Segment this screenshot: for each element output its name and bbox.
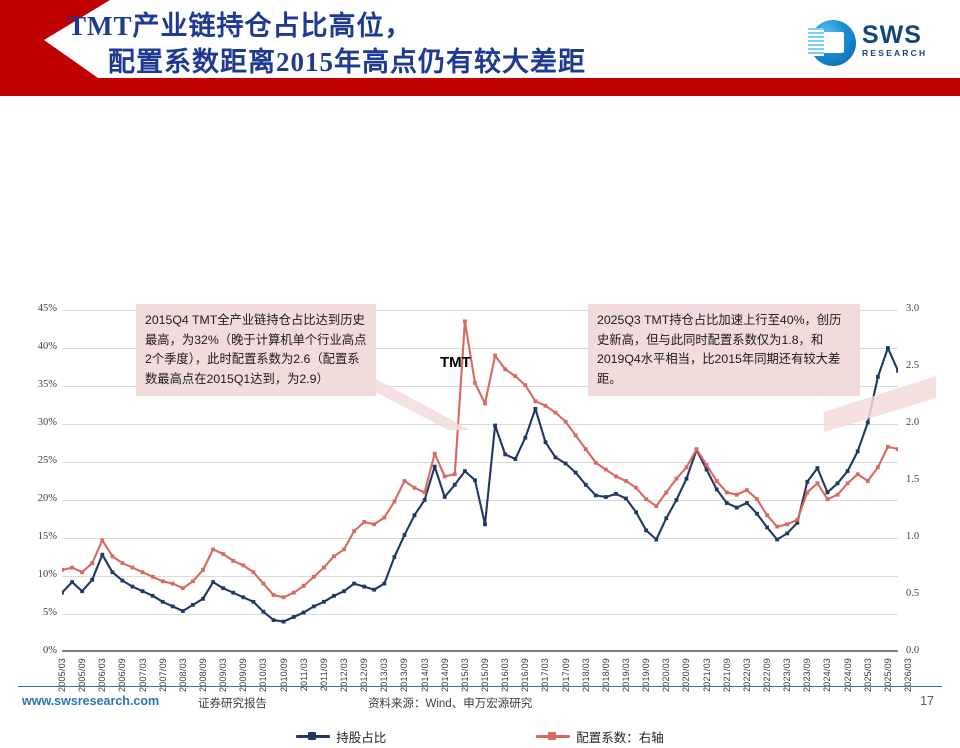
data-point-marker <box>513 457 517 461</box>
y-axis-left-tick: 15% <box>17 531 57 542</box>
data-point-marker <box>886 346 890 350</box>
callout-box-2025q3: 2025Q3 TMT持仓占比加速上行至40%，创历史新高，但与此同时配置系数仅为… <box>588 304 860 396</box>
data-point-marker <box>151 575 155 579</box>
page-title: TMT产业链持仓占比高位， 配置系数距离2015年高点仍有较大差距 <box>60 8 760 80</box>
data-point-marker <box>775 525 779 529</box>
data-point-marker <box>846 469 850 473</box>
data-point-marker <box>372 522 376 526</box>
data-point-marker <box>755 512 759 516</box>
data-point-marker <box>574 471 578 475</box>
data-point-marker <box>826 491 830 495</box>
data-point-marker <box>675 498 679 502</box>
data-point-marker <box>503 367 507 371</box>
logo-subtitle: RESEARCH <box>862 48 927 59</box>
data-point-marker <box>503 453 507 457</box>
data-point-marker <box>634 510 638 514</box>
data-point-marker <box>805 480 809 484</box>
data-point-marker <box>302 611 306 615</box>
y-axis-right-tick: 3.0 <box>906 303 946 314</box>
data-point-marker <box>151 594 155 598</box>
data-point-marker <box>715 488 719 492</box>
y-axis-left-tick: 30% <box>17 417 57 428</box>
slide-header: TMT产业链持仓占比高位， 配置系数距离2015年高点仍有较大差距 SWS RE… <box>0 0 960 96</box>
data-point-marker <box>272 593 276 597</box>
data-point-marker <box>292 591 296 595</box>
data-point-marker <box>90 578 94 582</box>
data-point-marker <box>231 559 235 563</box>
data-point-marker <box>816 481 820 485</box>
data-point-marker <box>564 420 568 424</box>
data-point-marker <box>231 591 235 595</box>
data-point-marker <box>523 383 527 387</box>
footer-source-label: 资料来源：Wind、申万宏源研究 <box>368 695 532 711</box>
data-point-marker <box>775 538 779 542</box>
sws-research-logo: SWS RESEARCH <box>810 18 938 68</box>
callout-box-2015q4: 2015Q4 TMT全产业链持仓占比达到历史最高，为32%（晚于计算机单个行业高… <box>136 304 376 396</box>
data-point-marker <box>856 450 860 454</box>
data-point-marker <box>332 554 336 558</box>
data-point-marker <box>896 369 898 373</box>
data-point-marker <box>735 506 739 510</box>
chart-legend: 持股占比配置系数：右轴 <box>0 724 960 748</box>
data-point-marker <box>191 579 195 583</box>
x-axis-line <box>62 650 898 652</box>
logo-text: SWS RESEARCH <box>862 22 927 59</box>
y-axis-right-tick: 0.0 <box>906 645 946 656</box>
data-point-marker <box>675 477 679 481</box>
data-point-marker <box>171 605 175 609</box>
footer-website-link[interactable]: www.swsresearch.com <box>22 694 159 708</box>
data-point-marker <box>141 570 145 574</box>
data-point-marker <box>272 618 276 622</box>
data-point-marker <box>523 436 527 440</box>
data-point-marker <box>141 589 145 593</box>
data-point-marker <box>453 472 457 476</box>
data-point-marker <box>80 570 84 574</box>
data-point-marker <box>111 554 115 558</box>
y-axis-left-tick: 35% <box>17 379 57 390</box>
data-point-marker <box>403 533 407 537</box>
y-axis-left-tick: 40% <box>17 341 57 352</box>
data-point-marker <box>282 620 286 624</box>
data-point-marker <box>856 472 860 476</box>
data-point-marker <box>423 491 427 495</box>
data-point-marker <box>654 504 658 508</box>
data-point-marker <box>62 591 64 595</box>
data-point-marker <box>785 522 789 526</box>
data-point-marker <box>594 461 598 465</box>
y-axis-left-tick: 25% <box>17 455 57 466</box>
data-point-marker <box>70 566 74 570</box>
data-point-marker <box>765 526 769 530</box>
data-point-marker <box>302 584 306 588</box>
data-point-marker <box>62 568 64 572</box>
data-point-marker <box>463 469 467 473</box>
logo-stripes-icon <box>808 28 824 56</box>
data-point-marker <box>685 465 689 469</box>
legend-item-1[interactable]: 配置系数：右轴 <box>536 727 664 746</box>
data-point-marker <box>765 513 769 517</box>
data-point-marker <box>805 491 809 495</box>
data-point-marker <box>292 615 296 619</box>
data-point-marker <box>836 481 840 485</box>
data-point-marker <box>564 462 568 466</box>
y-axis-right-tick: 1.5 <box>906 474 946 485</box>
data-point-marker <box>493 424 497 428</box>
data-point-marker <box>745 501 749 505</box>
page-title-line2: 配置系数距离2015年高点仍有较大差距 <box>60 44 760 80</box>
y-axis-right-tick: 2.0 <box>906 417 946 428</box>
data-point-marker <box>382 582 386 586</box>
page-title-line1: TMT产业链持仓占比高位， <box>60 8 760 44</box>
data-point-marker <box>695 447 699 451</box>
chart-series-title: TMT <box>440 354 471 371</box>
data-point-marker <box>262 582 266 586</box>
data-point-marker <box>100 553 104 557</box>
data-point-marker <box>483 402 487 406</box>
data-point-marker <box>241 595 245 599</box>
data-point-marker <box>483 522 487 526</box>
data-point-marker <box>131 585 135 589</box>
data-point-marker <box>634 486 638 490</box>
data-point-marker <box>574 434 578 438</box>
data-point-marker <box>322 600 326 604</box>
data-point-marker <box>322 566 326 570</box>
data-point-marker <box>121 579 125 583</box>
data-point-marker <box>554 411 558 415</box>
slide-footer: www.swsresearch.com 证券研究报告 资料来源：Wind、申万宏… <box>0 686 960 720</box>
data-point-marker <box>443 495 447 499</box>
data-point-marker <box>463 320 467 324</box>
data-point-marker <box>836 493 840 497</box>
data-point-marker <box>121 561 125 565</box>
data-point-marker <box>413 513 417 517</box>
data-point-marker <box>100 538 104 542</box>
data-point-marker <box>382 516 386 520</box>
y-axis-left-tick: 45% <box>17 303 57 314</box>
y-axis-left-tick: 10% <box>17 569 57 580</box>
data-point-marker <box>252 600 256 604</box>
data-point-marker <box>755 497 759 501</box>
data-point-marker <box>664 491 668 495</box>
data-point-marker <box>584 483 588 487</box>
data-point-marker <box>473 381 477 385</box>
legend-label: 持股占比 <box>336 727 386 746</box>
data-point-marker <box>171 582 175 586</box>
data-point-marker <box>544 404 548 408</box>
y-axis-left-tick: 0% <box>17 645 57 656</box>
data-point-marker <box>534 407 538 411</box>
data-point-marker <box>90 561 94 565</box>
page-number: 17 <box>920 694 934 708</box>
data-point-marker <box>362 520 366 524</box>
data-point-marker <box>725 491 729 495</box>
y-axis-right-tick: 2.5 <box>906 360 946 371</box>
data-point-marker <box>70 580 74 584</box>
data-point-marker <box>544 440 548 444</box>
data-point-marker <box>453 483 457 487</box>
data-point-marker <box>846 481 850 485</box>
data-point-marker <box>433 465 437 469</box>
data-point-marker <box>332 594 336 598</box>
data-point-marker <box>534 399 538 403</box>
y-axis-right-tick: 0.5 <box>906 588 946 599</box>
data-point-marker <box>604 495 608 499</box>
data-point-marker <box>866 421 870 425</box>
data-point-marker <box>312 605 316 609</box>
data-point-marker <box>664 516 668 520</box>
data-point-marker <box>795 518 799 522</box>
data-point-marker <box>423 498 427 502</box>
data-point-marker <box>604 468 608 472</box>
data-point-marker <box>161 579 165 583</box>
data-point-marker <box>624 479 628 483</box>
data-point-marker <box>80 589 84 593</box>
data-point-marker <box>211 548 215 552</box>
data-point-marker <box>352 582 356 586</box>
data-point-marker <box>252 570 256 574</box>
data-point-marker <box>896 447 898 451</box>
legend-label: 配置系数：右轴 <box>576 727 664 746</box>
data-point-marker <box>282 595 286 599</box>
data-point-marker <box>816 466 820 470</box>
y-axis-left-tick: 5% <box>17 607 57 618</box>
data-point-marker <box>413 486 417 490</box>
data-point-marker <box>433 452 437 456</box>
legend-swatch-icon <box>296 735 330 738</box>
data-point-marker <box>201 597 205 601</box>
data-point-marker <box>372 588 376 592</box>
data-point-marker <box>443 475 447 479</box>
data-point-marker <box>614 492 618 496</box>
data-point-marker <box>876 465 880 469</box>
data-point-marker <box>725 501 729 505</box>
data-point-marker <box>393 500 397 504</box>
data-point-marker <box>161 600 165 604</box>
data-point-marker <box>352 529 356 533</box>
data-point-marker <box>131 566 135 570</box>
legend-item-0[interactable]: 持股占比 <box>296 727 386 746</box>
data-point-marker <box>785 532 789 536</box>
data-point-marker <box>181 609 185 613</box>
legend-swatch-icon <box>536 735 570 738</box>
data-point-marker <box>342 548 346 552</box>
data-point-marker <box>594 494 598 498</box>
y-axis-left-tick: 20% <box>17 493 57 504</box>
data-point-marker <box>493 354 497 358</box>
data-point-marker <box>554 456 558 460</box>
data-point-marker <box>735 493 739 497</box>
data-point-marker <box>111 570 115 574</box>
data-point-marker <box>312 575 316 579</box>
footer-report-label: 证券研究报告 <box>198 695 267 711</box>
data-point-marker <box>201 568 205 572</box>
data-point-marker <box>191 603 195 607</box>
logo-name: SWS <box>862 22 927 48</box>
data-point-marker <box>644 497 648 501</box>
data-point-marker <box>584 447 588 451</box>
footer-divider <box>18 686 942 687</box>
data-point-marker <box>826 497 830 501</box>
chart-container: 0%5%10%15%20%25%30%35%40%45% 0.00.51.01.… <box>0 96 960 676</box>
data-point-marker <box>644 529 648 533</box>
data-point-marker <box>241 564 245 568</box>
y-axis-right-tick: 1.0 <box>906 531 946 542</box>
data-point-marker <box>221 552 225 556</box>
data-point-marker <box>745 488 749 492</box>
data-point-marker <box>705 463 709 467</box>
data-point-marker <box>221 586 225 590</box>
data-point-marker <box>886 445 890 449</box>
data-point-marker <box>866 479 870 483</box>
data-point-marker <box>342 589 346 593</box>
data-point-marker <box>473 478 477 482</box>
data-point-marker <box>614 475 618 479</box>
data-point-marker <box>393 555 397 559</box>
data-point-marker <box>685 477 689 481</box>
data-point-marker <box>262 610 266 614</box>
data-point-marker <box>624 497 628 501</box>
data-point-marker <box>715 479 719 483</box>
data-point-marker <box>362 585 366 589</box>
data-point-marker <box>513 374 517 378</box>
data-point-marker <box>654 538 658 542</box>
data-point-marker <box>181 586 185 590</box>
data-point-marker <box>876 375 880 379</box>
data-point-marker <box>211 580 215 584</box>
data-point-marker <box>403 479 407 483</box>
